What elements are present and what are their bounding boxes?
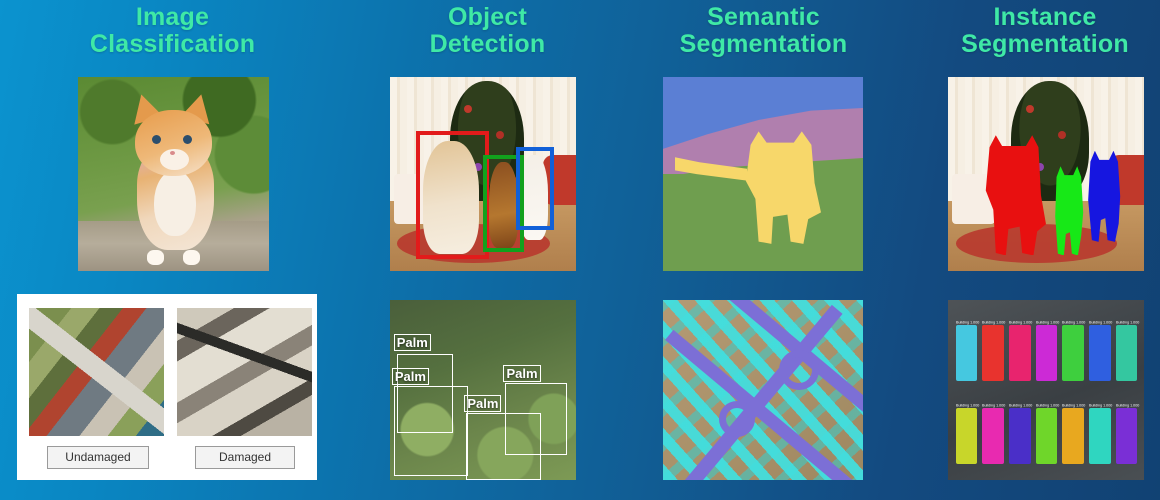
class-label-damaged: Damaged [195,446,295,469]
kitten-paw-right [183,250,200,266]
building-instance-label: Building 1.000 [956,320,979,325]
building-instance-label: Building 1.000 [1116,320,1139,325]
building-instance-mask [956,325,978,381]
building-instance-segmentation: Building 1.000Building 1.000Building 1.0… [948,300,1144,480]
building-instance-label: Building 1.000 [1036,320,1059,325]
palm-label-2: Palm [392,368,429,385]
building-instance-mask [1009,325,1031,381]
kitten-paw-left [147,250,164,266]
slide-canvas: Image Classification Object Detection Se… [0,0,1160,500]
building-instance-label: Building 1.000 [1089,403,1112,408]
building-instance-mask [1036,408,1058,464]
building-instance-mask [982,325,1004,381]
building-instance-label: Building 1.000 [982,320,1005,325]
building-instance-mask [1062,408,1084,464]
building-instance-label: Building 1.000 [1009,403,1032,408]
building-instance-mask [1116,325,1138,381]
palm-label-3: Palm [503,365,540,382]
column-title-image-classification: Image Classification [40,4,305,58]
aerial-tile-undamaged [29,308,164,436]
kitten-chest [154,170,196,236]
aerial-tile-damaged [177,308,312,436]
building-instance-label: Building 1.000 [1116,403,1139,408]
image-classification-kitten-photo [78,77,269,271]
kitten-nose [170,151,175,155]
building-instance-mask [1089,325,1111,381]
building-instance-label: Building 1.000 [1089,320,1112,325]
building-instance-mask [1089,408,1111,464]
building-instance-mask [1116,408,1138,464]
roundabout-2 [719,401,755,437]
building-instance-mask [1036,325,1058,381]
damage-classification-card: Undamaged Damaged [17,294,317,480]
class-label-undamaged: Undamaged [47,446,149,469]
building-instance-label: Building 1.000 [982,403,1005,408]
building-mask-grid: Building 1.000Building 1.000Building 1.0… [948,300,1144,480]
building-instance-label: Building 1.000 [1062,403,1085,408]
building-instance-mask [982,408,1004,464]
bounding-box-blue [516,147,553,230]
palm-label-1: Palm [394,334,431,351]
column-title-semantic-segmentation: Semantic Segmentation [645,4,882,58]
bounding-box-red [416,131,489,259]
palm-label-4: Palm [464,395,501,412]
palm-box-2 [394,386,468,476]
building-instance-mask [956,408,978,464]
building-instance-label: Building 1.000 [1036,403,1059,408]
semantic-segmentation-map [663,77,863,271]
satellite-semantic-segmentation [663,300,863,480]
column-title-instance-segmentation: Instance Segmentation [930,4,1160,58]
building-instance-label: Building 1.000 [956,403,979,408]
palm-box-4 [466,413,540,480]
palm-detection-aerial: Palm Palm Palm Palm [390,300,576,480]
building-instance-mask [1062,325,1084,381]
object-detection-photo [390,77,576,271]
building-instance-label: Building 1.000 [1062,320,1085,325]
building-instance-mask [1009,408,1031,464]
instance-segmentation-photo [948,77,1144,271]
building-instance-label: Building 1.000 [1009,320,1032,325]
column-title-object-detection: Object Detection [360,4,615,58]
